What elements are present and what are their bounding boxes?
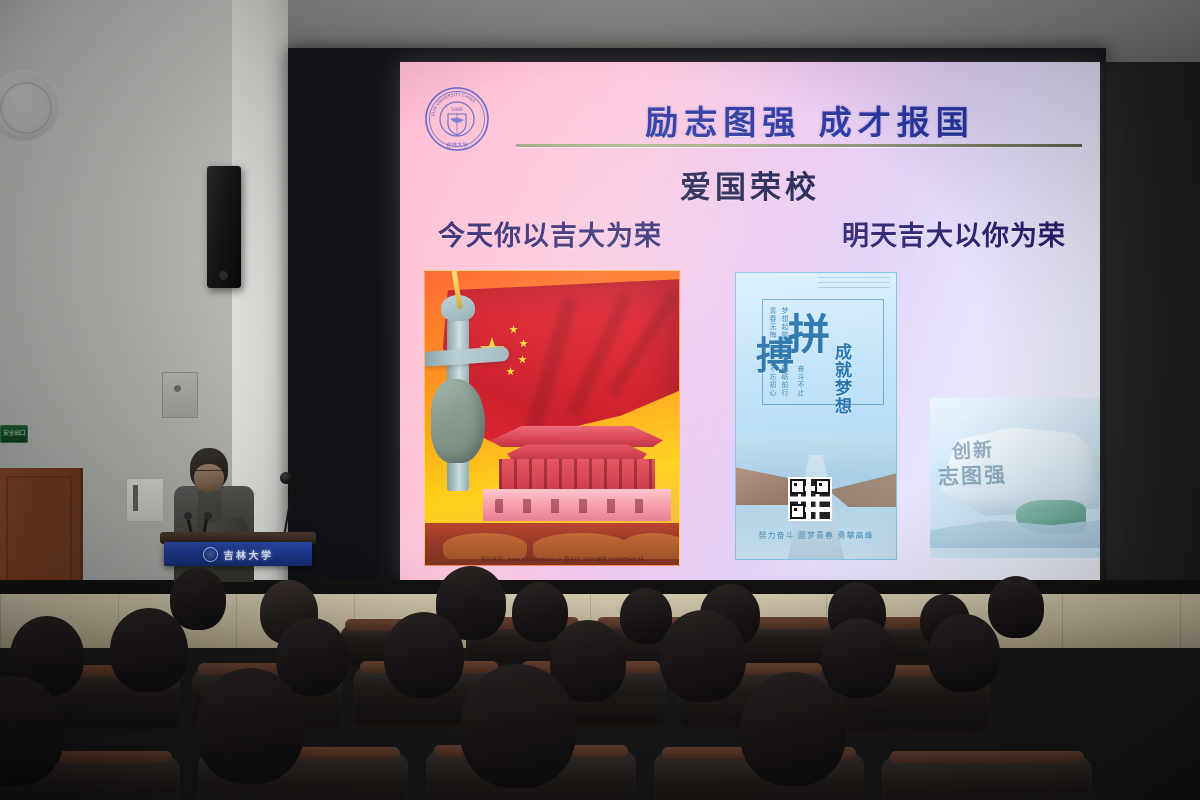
seated-audience: [0, 560, 1200, 800]
qr-code-pattern: [790, 479, 830, 519]
audience-head: [110, 608, 188, 692]
gate-roof: [491, 423, 663, 447]
presentation-slide: 1946 吉林大学 JILIN UNIVERSITY CHINA 励志图强 成才…: [400, 62, 1100, 580]
road-embankment-right: [824, 463, 896, 507]
audience-head: [384, 612, 464, 698]
qr-finder-icon: [790, 479, 805, 494]
jilin-university-seal-icon: 1946 吉林大学 JILIN UNIVERSITY CHINA: [424, 86, 490, 152]
poster-vertical-text: 梦想起航: [780, 307, 789, 339]
microphone-icon: [184, 512, 192, 520]
exit-sign: 安全出口: [0, 425, 28, 443]
wall-speaker: [207, 166, 241, 288]
poster-vertical-text: 不忘初心: [768, 365, 777, 397]
slide-title: 励志图强 成才报国: [550, 96, 1070, 144]
audience-head: [660, 610, 746, 702]
audience-head: [988, 576, 1044, 638]
slogan-left: 今天你以吉大为荣: [438, 214, 662, 253]
poster-char-dreams: 成就梦想: [832, 343, 849, 415]
auditorium-seat[interactable]: [882, 756, 1092, 800]
gate-columns: [499, 459, 655, 489]
title-divider-rule: [516, 144, 1082, 147]
qr-code[interactable]: [788, 477, 832, 521]
dragon-carving-icon: [431, 379, 485, 463]
poster-vertical-text: 青春无悔: [768, 307, 777, 339]
exit-sign-label: 安全出口: [3, 431, 25, 437]
stone-inscription-bottom: 志图强: [937, 459, 1007, 491]
poster-vertical-text: 砥砺前行: [780, 365, 789, 397]
right-wall: [1100, 62, 1200, 592]
audience-head: [170, 568, 226, 630]
audience-head: [196, 668, 304, 784]
auditorium-photo: 安全出口 1946 吉林大学 JILIN UNIVERSITY CHINA: [0, 0, 1200, 800]
struggle-achieve-dreams-poster: 拼 搏 成就梦想 青春无悔 梦想起航 不忘初心 砥砺前行 奋斗不止: [735, 272, 897, 560]
audience-head: [460, 664, 576, 788]
svg-text:1946: 1946: [451, 107, 463, 113]
audience-head: [928, 614, 1000, 692]
poster-vertical-text: 奋斗不止: [796, 365, 805, 397]
gate-archways: [495, 499, 655, 513]
wall-outlet-panel: [126, 478, 164, 522]
slide-slogan-row: 今天你以吉大为荣 明天吉大以你为荣: [424, 214, 1076, 253]
wall-relief-emblem-icon: [0, 70, 60, 142]
poster-footer-text: 努力奋斗 圆梦青春 勇攀高峰: [744, 530, 888, 541]
engraved-stone-photo: 创新 志图强: [930, 398, 1100, 558]
speaker-face: [194, 464, 224, 492]
slide-image-row: 图片来源：www.photophoto.cn 图片ID:1000编号:00000…: [400, 270, 1100, 570]
patriotic-flag-tiananmen-poster: 图片来源：www.photophoto.cn 图片ID:1000编号:00000…: [424, 270, 680, 566]
microphone-icon: [280, 472, 292, 484]
wall-control-box: [162, 372, 198, 418]
svg-text:吉林大学: 吉林大学: [446, 141, 468, 149]
glasses-icon: [193, 470, 225, 477]
audience-head: [740, 672, 846, 786]
microphone-icon: [204, 512, 212, 520]
poster-char-pin: 拼: [788, 301, 830, 362]
slogan-right: 明天吉大以你为荣: [842, 214, 1066, 253]
slide-subtitle: 爱国荣校: [400, 162, 1100, 207]
audience-head: [822, 618, 896, 698]
tiananmen-gate-icon: [481, 423, 671, 527]
qr-finder-icon: [790, 504, 805, 519]
poster-top-textblock: [818, 277, 890, 291]
qr-finder-icon: [815, 479, 830, 494]
